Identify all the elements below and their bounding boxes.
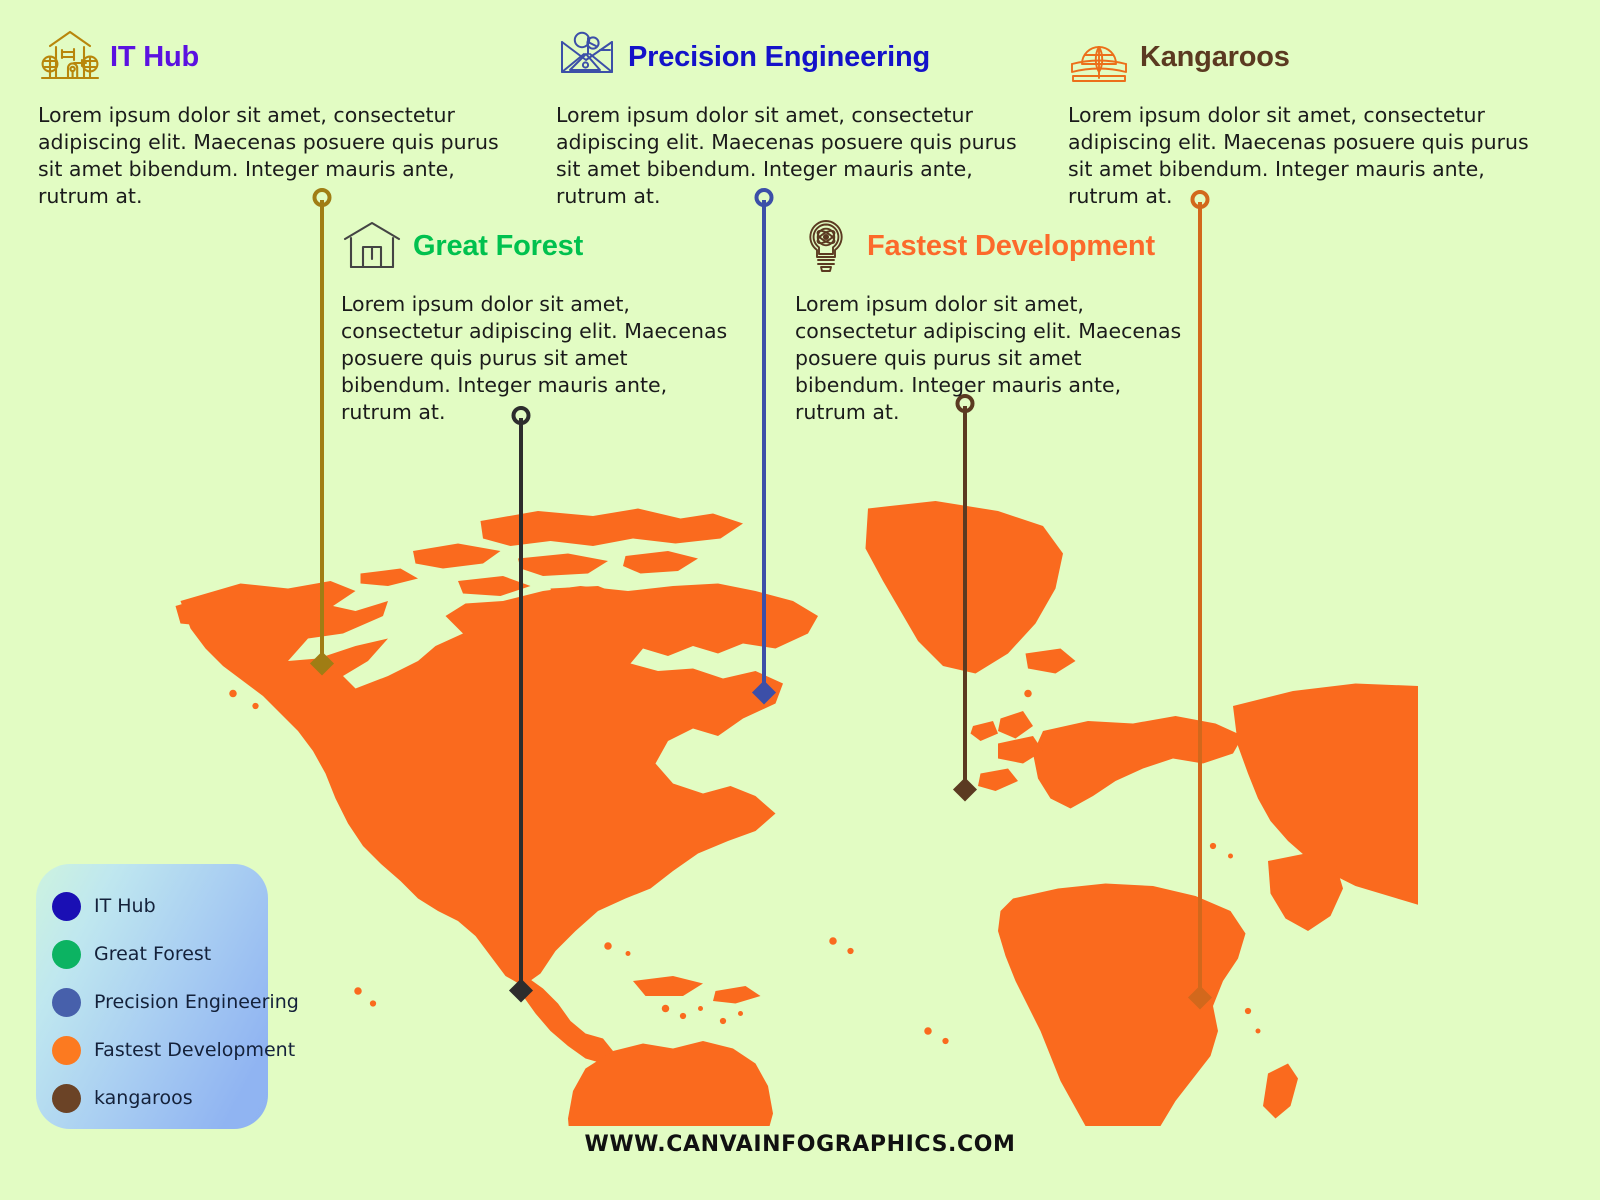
legend-label: Fastest Development xyxy=(94,1039,295,1061)
connector-line xyxy=(1198,202,1202,997)
connector-line xyxy=(320,200,324,663)
connector-foot-diamond xyxy=(751,680,775,704)
callout-header: Precision Engineering xyxy=(556,24,1026,90)
callout-header: Great Forest xyxy=(341,213,736,279)
callout-title: IT Hub xyxy=(110,41,199,74)
legend-swatch xyxy=(52,892,81,921)
callout-title: Great Forest xyxy=(413,230,583,263)
callout-body: Lorem ipsum dolor sit amet, consectetur … xyxy=(556,102,1026,210)
callout-body: Lorem ipsum dolor sit amet, consectetur … xyxy=(38,102,508,210)
callout-great-forest: Great Forest Lorem ipsum dolor sit amet,… xyxy=(341,213,736,426)
connector-kangaroos xyxy=(1190,190,1209,1006)
callout-precision-engineering: Precision Engineering Lorem ipsum dolor … xyxy=(556,24,1026,210)
callout-title: Kangaroos xyxy=(1140,41,1290,74)
callout-it-hub: IT Hub Lorem ipsum dolor sit amet, conse… xyxy=(38,24,508,210)
callout-body: Lorem ipsum dolor sit amet, consectetur … xyxy=(1068,102,1538,210)
connector-foot-diamond xyxy=(952,777,976,801)
connector-line xyxy=(963,406,967,789)
legend-item-great-forest[interactable]: Great Forest xyxy=(36,930,268,978)
connector-foot-diamond xyxy=(1187,985,1211,1009)
house-with-trees-icon xyxy=(38,28,100,86)
connector-it-hub xyxy=(312,188,331,672)
callout-header: IT Hub xyxy=(38,24,508,90)
legend-label: kangaroos xyxy=(94,1087,193,1109)
world-map-svg xyxy=(168,486,1418,1126)
legend-swatch xyxy=(52,988,81,1017)
legend-label: Precision Engineering xyxy=(94,991,299,1013)
legend-swatch xyxy=(52,1084,81,1113)
callout-title: Fastest Development xyxy=(867,230,1155,263)
barn-house-icon xyxy=(341,217,403,275)
callout-header: Fastest Development xyxy=(795,213,1190,279)
callout-fastest-development: Fastest Development Lorem ipsum dolor si… xyxy=(795,213,1190,426)
legend-panel: IT Hub Great Forest Precision Engineerin… xyxy=(36,864,268,1129)
legend-swatch xyxy=(52,940,81,969)
callout-body: Lorem ipsum dolor sit amet, consectetur … xyxy=(341,291,736,426)
legend-item-it-hub[interactable]: IT Hub xyxy=(36,882,268,930)
connector-foot-diamond xyxy=(309,651,333,675)
callout-title: Precision Engineering xyxy=(628,41,930,74)
footer-url[interactable]: WWW.CANVAINFOGRAPHICS.COM xyxy=(0,1132,1600,1157)
connector-fastest-development xyxy=(955,394,974,798)
legend-label: Great Forest xyxy=(94,943,211,965)
legend-item-fastest-development[interactable]: Fastest Development xyxy=(36,1026,268,1074)
callout-header: Kangaroos xyxy=(1068,24,1538,90)
callout-body: Lorem ipsum dolor sit amet, consectetur … xyxy=(795,291,1190,426)
legend-item-kangaroos[interactable]: kangaroos xyxy=(36,1074,268,1122)
connector-precision-engineering xyxy=(754,188,773,701)
callout-kangaroos: Kangaroos Lorem ipsum dolor sit amet, co… xyxy=(1068,24,1538,210)
connector-line xyxy=(762,200,766,692)
legend-item-precision-engineering[interactable]: Precision Engineering xyxy=(36,978,268,1026)
map-landmasses xyxy=(176,501,1419,1126)
infographic-canvas: IT Hub Lorem ipsum dolor sit amet, conse… xyxy=(0,0,1600,1200)
globe-book-icon xyxy=(1068,28,1130,86)
lightbulb-atom-icon xyxy=(795,217,857,275)
connector-line xyxy=(519,418,523,990)
connector-great-forest xyxy=(511,406,530,999)
connector-foot-diamond xyxy=(508,978,532,1002)
legend-label: IT Hub xyxy=(94,895,156,917)
landscape-map-icon xyxy=(556,28,618,86)
legend-swatch xyxy=(52,1036,81,1065)
